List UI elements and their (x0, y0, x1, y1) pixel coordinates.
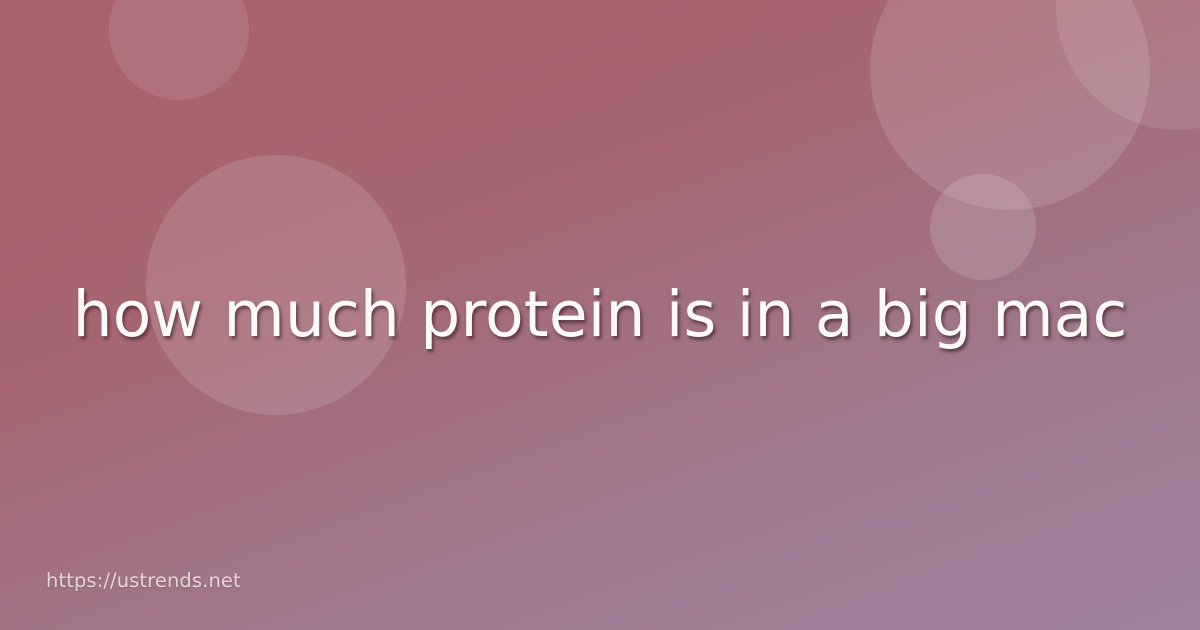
site-url-label: https://ustrends.net (46, 569, 241, 592)
headline-container: how much protein is in a big mac (0, 0, 1200, 630)
page-title: how much protein is in a big mac (73, 279, 1128, 351)
og-share-card: how much protein is in a big mac https:/… (0, 0, 1200, 630)
